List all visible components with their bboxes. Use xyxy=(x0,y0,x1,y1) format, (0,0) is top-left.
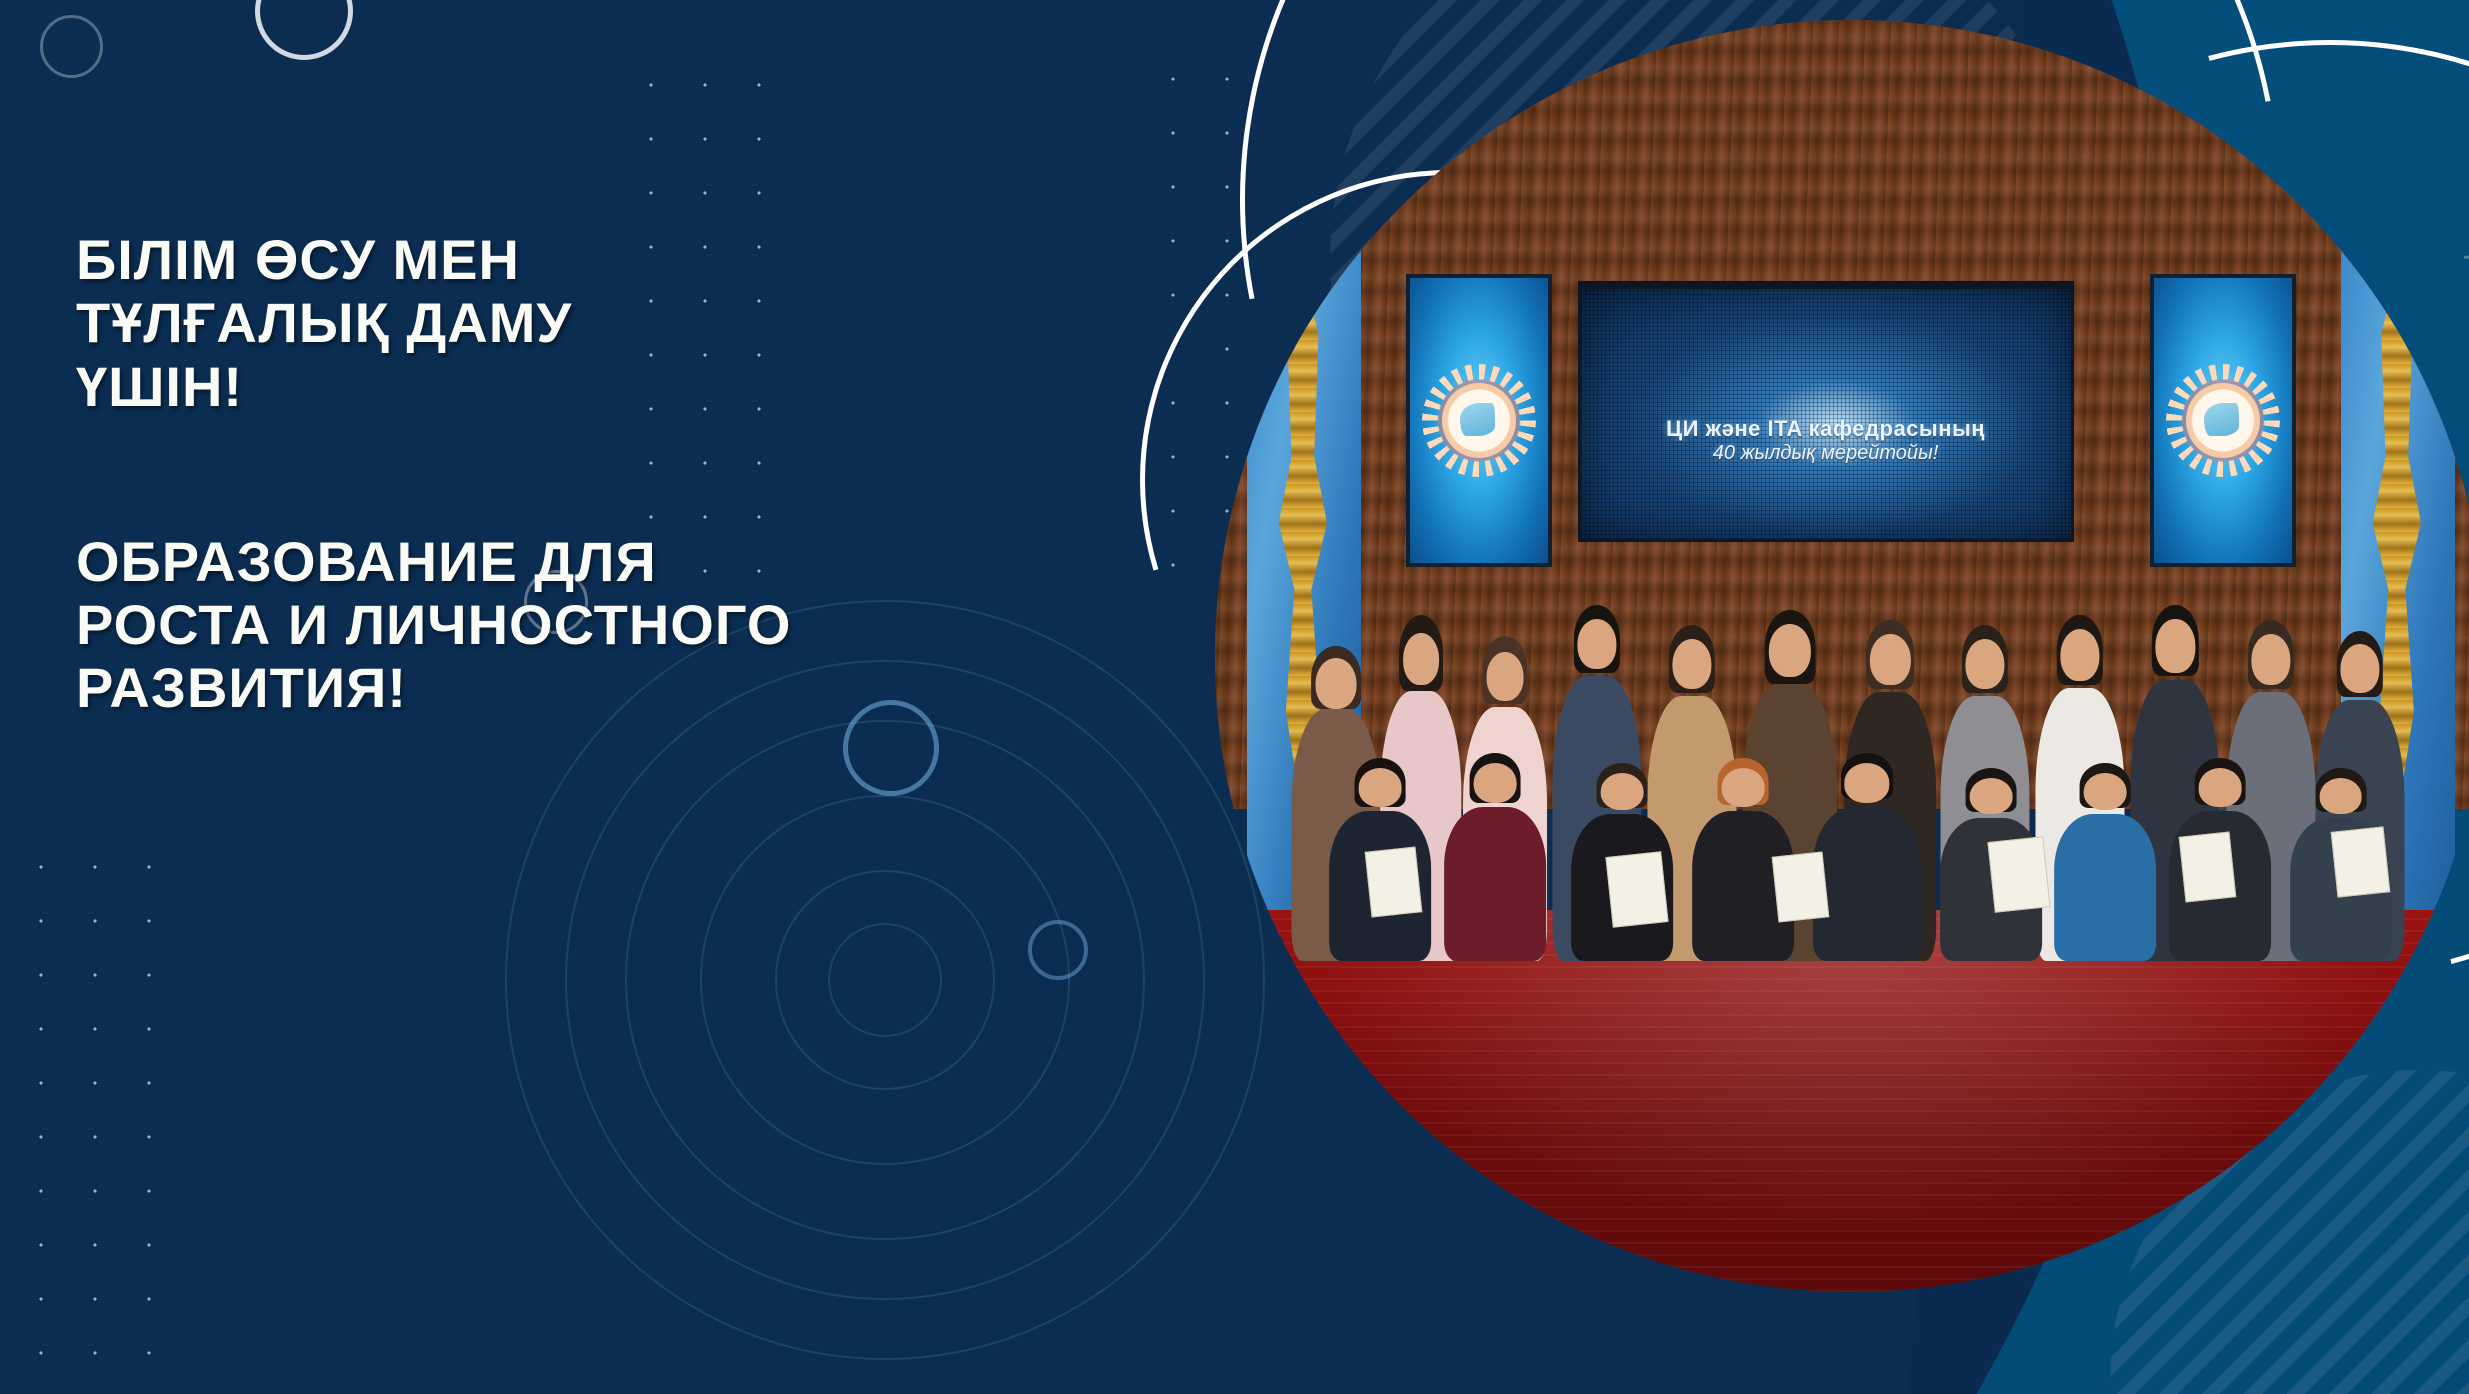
headline-block: БІЛІМ ӨСУ МЕН ТҰЛҒАЛЫҚ ДАМУ ҮШІН! ОБРАЗО… xyxy=(76,228,936,720)
headline-russian-line-3: РАЗВИТИЯ! xyxy=(76,656,936,719)
dot-grid-bottom-left xyxy=(14,840,184,1380)
outline-circle-center-c xyxy=(1028,920,1088,980)
led-screen-frame-top xyxy=(1581,281,2071,289)
person xyxy=(1444,753,1546,962)
headline-russian-line-1: ОБРАЗОВАНИЕ ДЛЯ xyxy=(76,530,936,593)
person xyxy=(1813,753,1921,962)
certificate xyxy=(1771,852,1829,923)
promotional-banner: ЦИ және ITA кафедрасының 40 жылдық мерей… xyxy=(0,0,2469,1394)
group-photo-circle: ЦИ және ITA кафедрасының 40 жылдық мерей… xyxy=(1215,20,2469,1292)
certificate xyxy=(1987,836,2050,913)
person xyxy=(2055,763,2157,961)
headline-kazakh-line-3: ҮШІН! xyxy=(76,355,936,418)
crowd-of-people xyxy=(1215,452,2469,961)
headline-kazakh: БІЛІМ ӨСУ МЕН ТҰЛҒАЛЫҚ ДАМУ ҮШІН! xyxy=(76,228,936,418)
certificate xyxy=(2331,826,2391,897)
outline-circle-top-left-small xyxy=(40,15,103,78)
headline-russian-line-2: РОСТА И ЛИЧНОСТНОГО xyxy=(76,593,936,656)
certificate xyxy=(1606,852,1669,929)
stage-floor xyxy=(1215,910,2469,1292)
led-screen-line1: ЦИ және ITA кафедрасының xyxy=(1600,416,2051,441)
certificate xyxy=(2178,832,2236,903)
sun-emblem-icon xyxy=(2186,383,2261,458)
sun-emblem-icon xyxy=(1442,383,1517,458)
certificate xyxy=(1364,847,1422,918)
headline-kazakh-line-1: БІЛІМ ӨСУ МЕН xyxy=(76,228,936,291)
auditorium-scene: ЦИ және ITA кафедрасының 40 жылдық мерей… xyxy=(1215,20,2469,1292)
headline-russian: ОБРАЗОВАНИЕ ДЛЯ РОСТА И ЛИЧНОСТНОГО РАЗВ… xyxy=(76,530,936,720)
headline-kazakh-line-2: ТҰЛҒАЛЫҚ ДАМУ xyxy=(76,291,936,354)
